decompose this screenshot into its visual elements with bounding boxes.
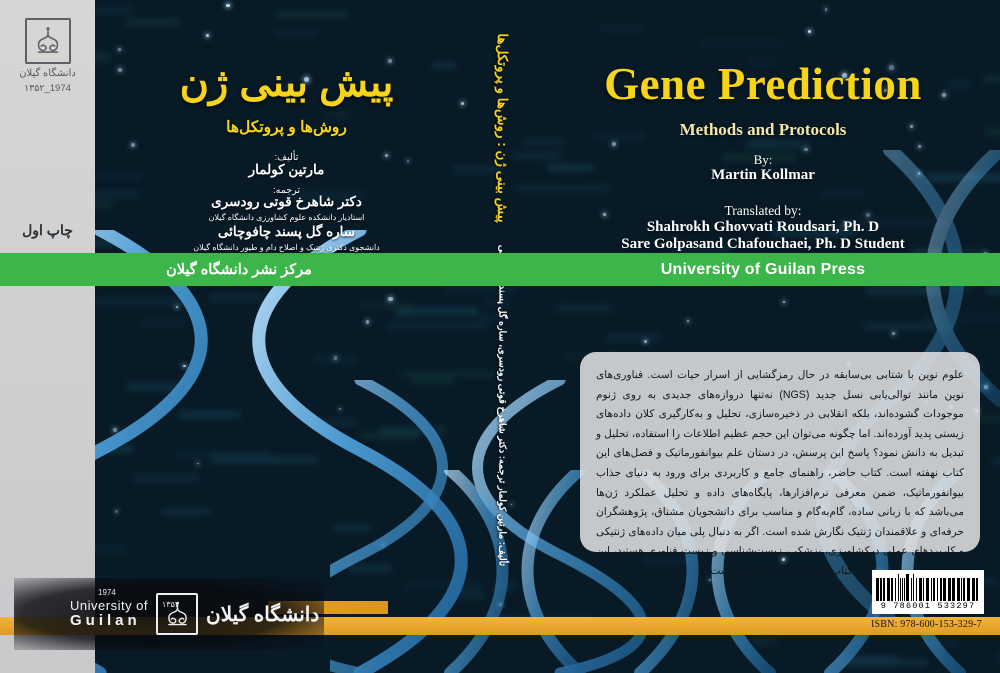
flap-logo: دانشگاه گیلان ۱۳۵۲_1974 (0, 18, 95, 94)
translated-by-label: Translated by: (526, 203, 1000, 219)
barcode-digits: 9 786001 533297 (876, 601, 980, 612)
spine-title: پیش بینی ژن : روش‌ها و پروتکل‌ها (494, 33, 510, 222)
persian-cover-text: پیش بینی ژن روش‌ها و پروتکل‌ها تألیف: ما… (95, 0, 478, 673)
book-subtitle: Methods and Protocols (526, 120, 1000, 140)
translator-2: Sare Golpasand Chafouchaei, Ph. D Studen… (526, 236, 1000, 253)
translator-1: Shahrokh Ghovvati Roudsari, Ph. D (526, 219, 1000, 236)
book-cover-artwork: دانشگاه گیلان ۱۳۵۲_1974 چاپ اول پیش بینی… (0, 0, 1000, 673)
spine-authors: تألیف: مارتین کولمار ترجمه: دکتر شاهرخ ق… (497, 245, 508, 566)
university-year-fa: ۱۳۵۳ (162, 600, 179, 609)
persian-translator-1: دکتر شاهرخ قوتی رودسری (95, 194, 478, 210)
university-name-line1: University of (70, 599, 148, 613)
university-name-fa: دانشگاه گیلان (206, 602, 319, 627)
cover-flap-left: دانشگاه گیلان ۱۳۵۲_1974 چاپ اول (0, 0, 95, 673)
book-title: Gene Prediction (526, 58, 1000, 110)
persian-translator-2: ساره گل پسند چافوچائی (95, 224, 478, 240)
university-year-en: 1974 (98, 588, 116, 597)
persian-title: پیش بینی ژن (95, 60, 478, 106)
persian-translator-1-affiliation: استادیار دانشکده علوم کشاورزی دانشگاه گی… (95, 213, 478, 222)
book-author: Martin Kollmar (526, 167, 1000, 184)
flap-logo-years: ۱۳۵۲_1974 (24, 83, 71, 94)
edition-label: چاپ اول (0, 222, 95, 239)
barcode-bars (876, 574, 980, 601)
university-name-line2: Guilan (70, 613, 148, 629)
university-emblem-icon (25, 18, 71, 64)
by-label: By: (526, 152, 1000, 168)
persian-subtitle: روش‌ها و پروتکل‌ها (95, 118, 478, 137)
guilan-emblem-glyph (31, 24, 65, 58)
barcode: 9 786001 533297 (872, 570, 984, 614)
persian-author: مارتین کولمار (95, 162, 478, 178)
back-cover-blurb: علوم نوین با شتابی بی‌سابقه در حال رمزگش… (580, 352, 980, 552)
university-logo: University of Guilan دانشگاه گیلان (14, 578, 324, 650)
isbn-label: ISBN: 978-600-153-329-7 (871, 619, 982, 630)
university-name-en: University of Guilan (70, 599, 148, 628)
flap-logo-fa: دانشگاه گیلان (19, 68, 76, 79)
book-spine: پیش بینی ژن : روش‌ها و پروتکل‌ها تألیف: … (478, 0, 526, 673)
persian-translator-2-affiliation: دانشجوی دکتری ژنتیک و اصلاح دام و طیور د… (95, 243, 478, 252)
